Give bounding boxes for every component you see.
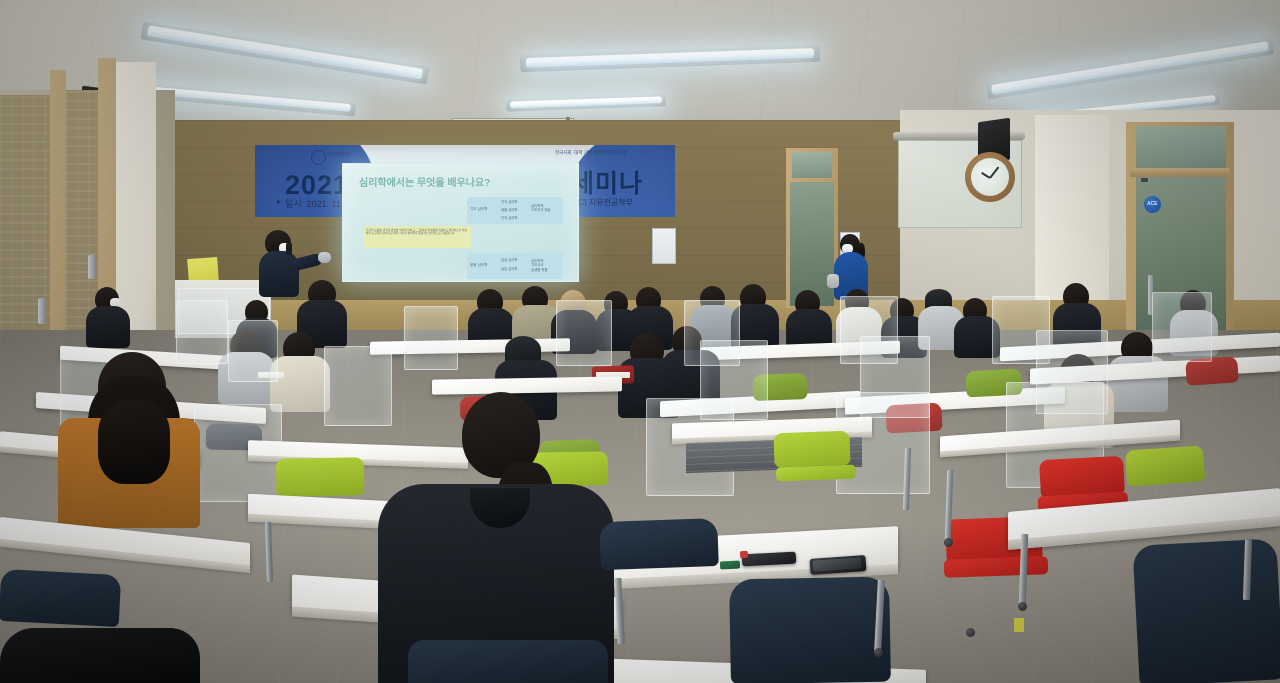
- green-card: [720, 560, 740, 569]
- banner-crest-text: 대구대학교: [327, 151, 350, 158]
- acrylic-divider: [324, 346, 392, 426]
- chair-navy[interactable]: [1132, 538, 1280, 683]
- clock-minute-hand: [989, 166, 999, 178]
- banner-crest-text-right: 한국사회 ·대학 기반 대학혁신지원사업: [555, 150, 627, 156]
- banner-bullet: ▸: [277, 197, 281, 206]
- chair-green[interactable]: [1125, 445, 1205, 486]
- desk-caster: [966, 628, 975, 637]
- slide-top-item-3: 인지 심리학: [501, 216, 518, 220]
- chair-seat-red[interactable]: [944, 556, 1049, 578]
- microphone: [286, 243, 292, 255]
- slide-bottom-right-label: 심리학적 기초지식 실생활 적용: [531, 259, 548, 272]
- acrylic-divider: [1152, 292, 1212, 362]
- student-hair-front: [98, 400, 170, 484]
- acrylic-divider: [176, 300, 228, 364]
- slide-middle-text: 인간의 心理를 과학적 방법에 의하여 밝히고, 그 원리를 실생활에 적용하고…: [366, 229, 468, 236]
- chair-navy[interactable]: [729, 577, 891, 683]
- chair-green[interactable]: [276, 457, 365, 497]
- slide-top-right-label: 심리학적 기초지식 제공: [531, 204, 551, 213]
- slide-bottom-item-2: 상담 심리학: [501, 267, 518, 271]
- desk-caster: [874, 648, 883, 657]
- acrylic-divider: [228, 320, 278, 382]
- ace-sticker-label: ACE: [1147, 201, 1158, 207]
- window-latch-2: [38, 298, 46, 324]
- chair-seat-green[interactable]: [776, 465, 856, 482]
- slide-top-item-1: 지각 심리학: [501, 200, 518, 204]
- acrylic-divider: [404, 306, 458, 370]
- right-door-lock: [1141, 178, 1148, 182]
- lecture-hall-photo: 대구대학교 2021년 도세미나 일시: 2021. 11. 11 ▸ 대학(S…: [0, 0, 1280, 683]
- window-latch: [88, 255, 96, 279]
- right-door-transom: [1136, 126, 1226, 168]
- chair-navy[interactable]: [408, 640, 608, 683]
- slide-bottom-left-label: 응용 심리학: [470, 263, 488, 267]
- slide-title: 심리학에서는 무엇을 배우나요?: [359, 174, 490, 189]
- student-body: [86, 306, 130, 348]
- clock-face: [971, 158, 1009, 196]
- dark-bag: [0, 628, 200, 683]
- caster-tag-yellow: [1014, 618, 1024, 632]
- wall-notice: [652, 228, 676, 264]
- desk-caster: [944, 538, 953, 547]
- slide-top-item-2: 생물 심리학: [501, 208, 518, 212]
- wall-clock: [965, 152, 1015, 202]
- phone-left-tip: [740, 551, 748, 558]
- slide-top-left-label: 기초 심리학: [470, 207, 488, 211]
- presenter-hand: [318, 252, 331, 263]
- right-door-transom-bar: [1130, 168, 1230, 177]
- desk-caster: [1018, 602, 1027, 611]
- presenter-body: [259, 251, 299, 297]
- projection-screen: 심리학에서는 무엇을 배우나요? 기초 심리학 지각 심리학 생물 심리학 인지…: [342, 163, 579, 282]
- chair-navy[interactable]: [599, 518, 719, 570]
- slide-bottom-item-1: 임상 심리학: [501, 258, 518, 262]
- front-door-top-glass: [792, 152, 832, 178]
- staff-hand: [827, 274, 839, 288]
- chair-green[interactable]: [773, 431, 850, 468]
- front-door[interactable]: [790, 182, 834, 306]
- acrylic-divider: [556, 300, 612, 366]
- chair-navy[interactable]: [0, 569, 121, 627]
